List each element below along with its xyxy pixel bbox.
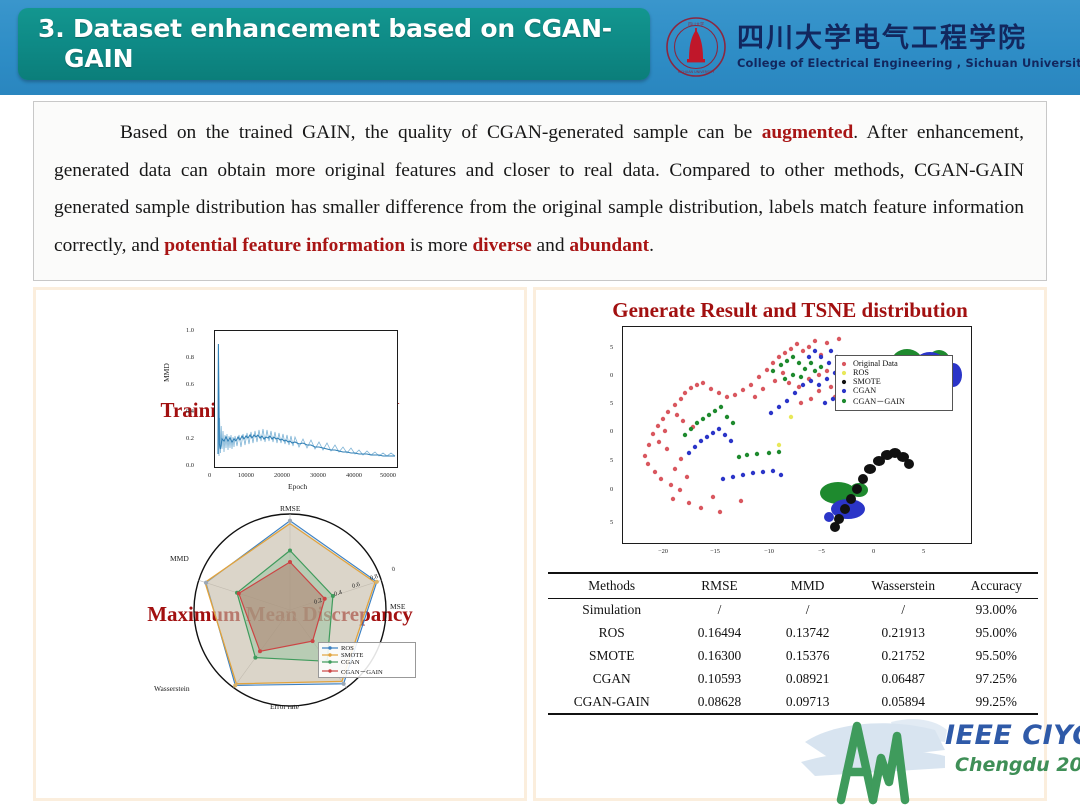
highlight-diverse: diverse — [472, 235, 531, 256]
table-col-mmd: MMD — [764, 573, 852, 599]
radar-legend-item-cgan-gain: CGAN－GAIN — [322, 666, 412, 676]
curve-x-axis-label: Epoch — [288, 482, 307, 491]
table-header-row: Methods RMSE MMD Wasserstein Accuracy — [548, 573, 1038, 599]
slide-header: 3. Dataset enhancement based on CGAN- GA… — [0, 0, 1080, 95]
radar-axis-mse: MSE — [390, 602, 405, 611]
table-col-methods: Methods — [548, 573, 675, 599]
radar-legend-label-cgan-gain: CGAN－GAIN — [341, 666, 383, 676]
university-name-cn: 四川大学电气工程学院 — [737, 24, 1080, 54]
table-col-accuracy: Accuracy — [955, 573, 1038, 599]
university-name-en: College of Electrical Engineering , Sich… — [737, 56, 1080, 70]
tsne-legend-label-cgan-gain: CGAN－GAIN — [853, 395, 905, 407]
ieee-logo-sub: Chengdu 2023 — [955, 754, 1080, 776]
tsne-legend-item-smote: SMOTE — [840, 377, 948, 386]
curve-plot-area — [214, 330, 398, 468]
tsne-legend-item-cgan-gain: CGAN－GAIN — [840, 395, 948, 407]
tsne-legend-item-ros: ROS — [840, 368, 948, 377]
svg-text:SICHUAN UNIVERSITY: SICHUAN UNIVERSITY — [678, 70, 716, 74]
radar-legend-label-smote: SMOTE — [341, 652, 363, 659]
tsne-xtick--20: −20 — [658, 548, 668, 555]
cell-rmse: / — [675, 599, 763, 622]
tsne-title: Generate Result and TSNE distribution — [536, 298, 1044, 323]
curve-xtick-20000: 20000 — [274, 472, 290, 479]
radar-axis-wasserstein: Wasserstein — [154, 684, 190, 693]
mmd-radar-chart: RMSE MSE Error rate Wasserstein MMD 0.2 … — [148, 502, 432, 718]
curve-ytick-0.0: 0.0 — [186, 462, 194, 469]
table-row: SMOTE 0.16300 0.15376 0.21752 95.50% — [548, 645, 1038, 668]
cell-wasserstein: 0.06487 — [852, 667, 955, 690]
tsne-xtick--5: −5 — [818, 548, 825, 555]
slide-body: Based on the trained GAIN, the quality o… — [0, 95, 1080, 805]
paragraph-seg-3: is more — [405, 235, 472, 256]
tsne-xtick-5: 5 — [922, 548, 925, 555]
radar-legend-item-smote: SMOTE — [322, 652, 412, 659]
cell-wasserstein: / — [852, 599, 955, 622]
page-title-line1: 3. Dataset enhancement based on CGAN- — [38, 14, 612, 43]
tsne-xtick-0: 0 — [872, 548, 875, 555]
curve-xtick-0: 0 — [208, 472, 211, 479]
highlight-potential-feature-information: potential feature information — [164, 235, 405, 256]
scu-seal-icon: 四川大学 SICHUAN UNIVERSITY — [665, 16, 727, 78]
cell-rmse: 0.16494 — [675, 622, 763, 645]
cell-rmse: 0.08628 — [675, 690, 763, 714]
tsne-legend-item-cgan: CGAN — [840, 386, 948, 395]
tsne-ytick-1: 5 — [610, 344, 613, 351]
cell-rmse: 0.16300 — [675, 645, 763, 668]
tsne-legend-label-cgan: CGAN — [853, 386, 876, 395]
cell-wasserstein: 0.21752 — [852, 645, 955, 668]
results-table: Methods RMSE MMD Wasserstein Accuracy Si… — [548, 572, 1038, 715]
radar-legend-item-ros: ROS — [322, 645, 412, 652]
university-wordmark: 四川大学电气工程学院 College of Electrical Enginee… — [737, 24, 1080, 69]
radar-legend-label-ros: ROS — [341, 645, 354, 652]
curve-xtick-40000: 40000 — [346, 472, 362, 479]
radar-legend-item-cgan: CGAN — [322, 659, 412, 666]
cell-method: SMOTE — [548, 645, 675, 668]
tsne-ytick-7: 5 — [610, 519, 613, 526]
cell-accuracy: 95.50% — [955, 645, 1038, 668]
curve-xtick-10000: 10000 — [238, 472, 254, 479]
cell-rmse: 0.10593 — [675, 667, 763, 690]
summary-text-panel: Based on the trained GAIN, the quality o… — [33, 101, 1047, 281]
summary-paragraph: Based on the trained GAIN, the quality o… — [54, 114, 1024, 264]
cell-method: CGAN-GAIN — [548, 690, 675, 714]
university-logo: 四川大学 SICHUAN UNIVERSITY 四川大学电气工程学院 Colle… — [665, 10, 1065, 84]
curve-ytick-0.4: 0.4 — [186, 408, 194, 415]
tsne-xtick--15: −15 — [710, 548, 720, 555]
cell-accuracy: 93.00% — [955, 599, 1038, 622]
page-title-line2: GAIN — [38, 44, 612, 75]
paragraph-seg-5: . — [649, 235, 654, 256]
table-col-rmse: RMSE — [675, 573, 763, 599]
tsne-ytick-3: 5 — [610, 400, 613, 407]
radar-axis-error-rate: Error rate — [270, 702, 299, 711]
curve-ytick-0.2: 0.2 — [186, 435, 194, 442]
tsne-ytick-2: 0 — [610, 372, 613, 379]
curve-ytick-0.8: 0.8 — [186, 354, 194, 361]
curve-ytick-0.6: 0.6 — [186, 381, 194, 388]
table-row: CGAN 0.10593 0.08921 0.06487 97.25% — [548, 667, 1038, 690]
tsne-xtick--10: −10 — [764, 548, 774, 555]
cell-mmd: 0.08921 — [764, 667, 852, 690]
table-col-wasserstein: Wasserstein — [852, 573, 955, 599]
radar-legend-label-cgan: CGAN — [341, 659, 360, 666]
highlight-augmented: augmented — [762, 122, 854, 143]
cell-method: CGAN — [548, 667, 675, 690]
tsne-legend-label-ros: ROS — [853, 368, 869, 377]
slide-title-box: 3. Dataset enhancement based on CGAN- GA… — [18, 8, 650, 80]
table-row: ROS 0.16494 0.13742 0.21913 95.00% — [548, 622, 1038, 645]
tsne-legend-label-smote: SMOTE — [853, 377, 881, 386]
paragraph-seg-1: Based on the trained GAIN, the quality o… — [120, 122, 762, 143]
curve-xtick-30000: 30000 — [310, 472, 326, 479]
radar-axis-mmd: MMD — [170, 554, 189, 563]
tsne-distribution: 5 0 5 0 5 0 5 — [588, 324, 1008, 566]
cell-method: ROS — [548, 622, 675, 645]
radar-axis-rmse: RMSE — [280, 504, 300, 513]
cgan-training-curve: MMD 1.0 0.8 0.6 0.4 0.2 0.0 0 10000 2000… — [164, 326, 414, 504]
cell-wasserstein: 0.21913 — [852, 622, 955, 645]
highlight-abundant: abundant — [569, 235, 649, 256]
curve-y-axis-label: MMD — [162, 363, 171, 382]
tsne-legend-label-original-data: Original Data — [853, 359, 898, 368]
paragraph-seg-4: and — [532, 235, 570, 256]
curve-xtick-50000: 50000 — [380, 472, 396, 479]
tsne-plot-area: Original Data ROS SMOTE CGAN — [622, 326, 972, 544]
radar-legend: ROS SMOTE CGAN CGAN－GAIN — [318, 642, 416, 678]
cell-accuracy: 95.00% — [955, 622, 1038, 645]
svg-text:四川大学: 四川大学 — [688, 21, 704, 27]
tsne-legend-item-original-data: Original Data — [840, 359, 948, 368]
cell-accuracy: 97.25% — [955, 667, 1038, 690]
cell-method: Simulation — [548, 599, 675, 622]
table-row: Simulation / / / 93.00% — [548, 599, 1038, 622]
ieee-ciycee-logo: IEEE CIYCEE Chengdu 2023 — [795, 706, 1080, 805]
tsne-ytick-6: 0 — [610, 486, 613, 493]
train-graphic — [801, 719, 947, 776]
cell-mmd: / — [764, 599, 852, 622]
left-chart-panel: Training process of CGAN MMD 1.0 0.8 0.6… — [33, 287, 527, 801]
curve-ytick-1.0: 1.0 — [186, 327, 194, 334]
cell-mmd: 0.15376 — [764, 645, 852, 668]
page-title: 3. Dataset enhancement based on CGAN- GA… — [18, 14, 628, 75]
cell-mmd: 0.13742 — [764, 622, 852, 645]
ieee-logo-main: IEEE CIYCEE — [945, 720, 1080, 751]
tsne-ytick-4: 0 — [610, 428, 613, 435]
tsne-ytick-5: 5 — [610, 457, 613, 464]
tsne-legend: Original Data ROS SMOTE CGAN — [835, 355, 953, 411]
